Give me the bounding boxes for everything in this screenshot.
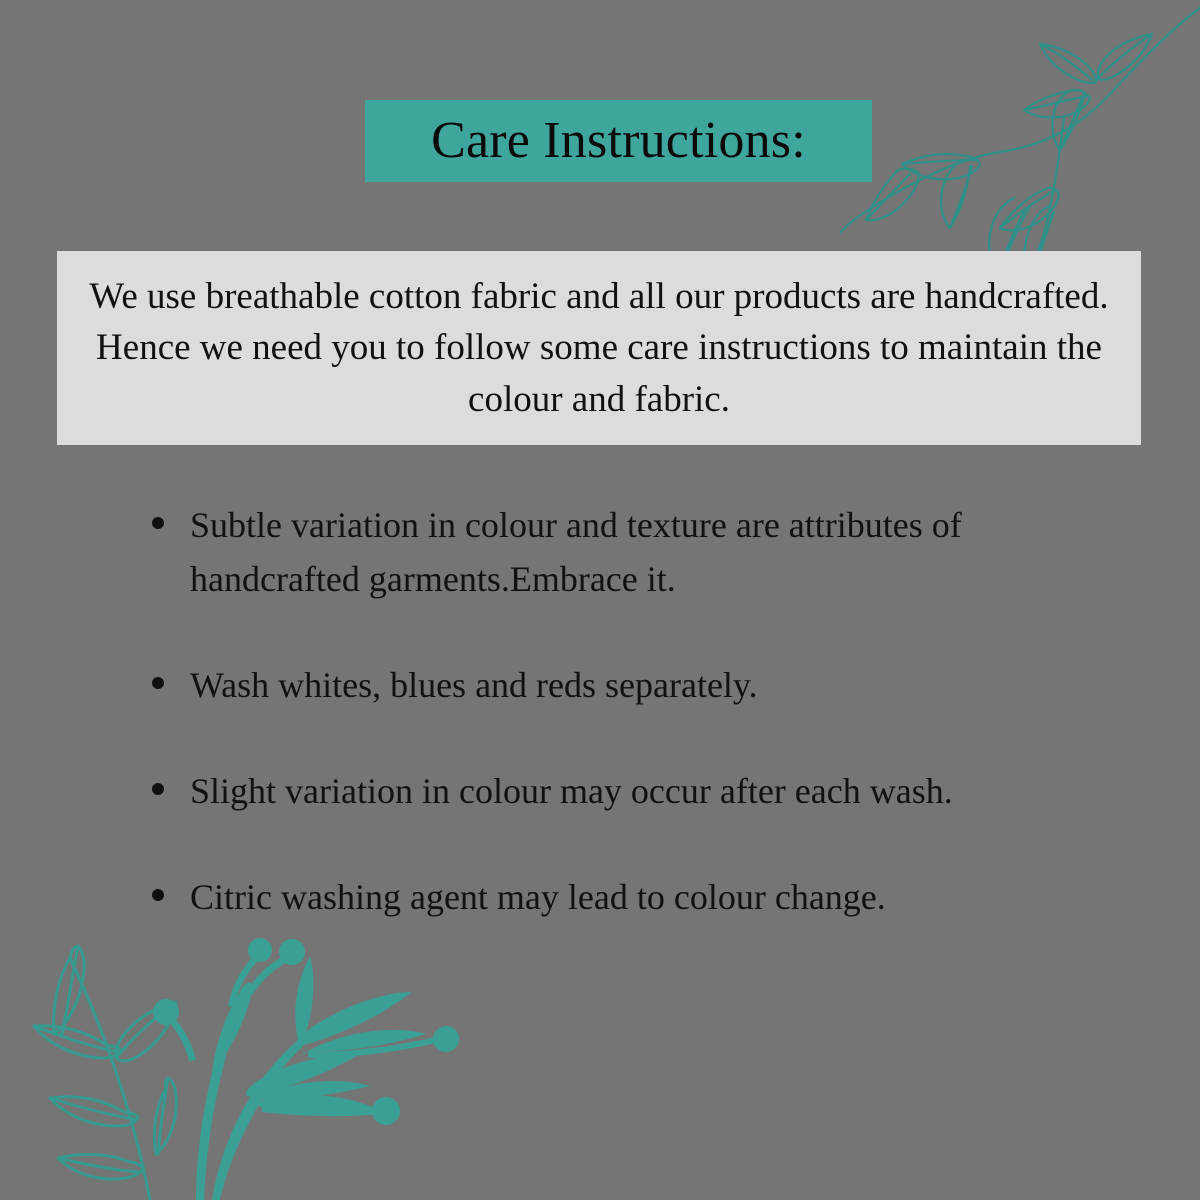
- bullet-dot-icon: [152, 517, 164, 529]
- leaf-branch-bottom-left-icon: [0, 900, 620, 1200]
- page-title: Care Instructions:: [365, 100, 872, 182]
- intro-paragraph: We use breathable cotton fabric and all …: [87, 271, 1111, 424]
- bullet-dot-icon: [152, 677, 164, 689]
- bullet-dot-icon: [152, 889, 164, 901]
- care-instructions-list: Subtle variation in colour and texture a…: [140, 498, 1130, 924]
- list-item: Citric washing agent may lead to colour …: [140, 870, 1130, 924]
- list-item-label: Subtle variation in colour and texture a…: [190, 498, 1130, 606]
- bullet-dot-icon: [152, 783, 164, 795]
- list-item-label: Wash whites, blues and reds separately.: [190, 658, 1130, 712]
- list-item-label: Slight variation in colour may occur aft…: [190, 764, 1130, 818]
- list-item: Wash whites, blues and reds separately.: [140, 658, 1130, 712]
- list-item: Subtle variation in colour and texture a…: [140, 498, 1130, 606]
- list-item: Slight variation in colour may occur aft…: [140, 764, 1130, 818]
- intro-text-wrapper: We use breathable cotton fabric and all …: [57, 251, 1141, 445]
- list-item-label: Citric washing agent may lead to colour …: [190, 870, 1130, 924]
- care-instructions-poster: Care Instructions: We use breathable cot…: [0, 0, 1200, 1200]
